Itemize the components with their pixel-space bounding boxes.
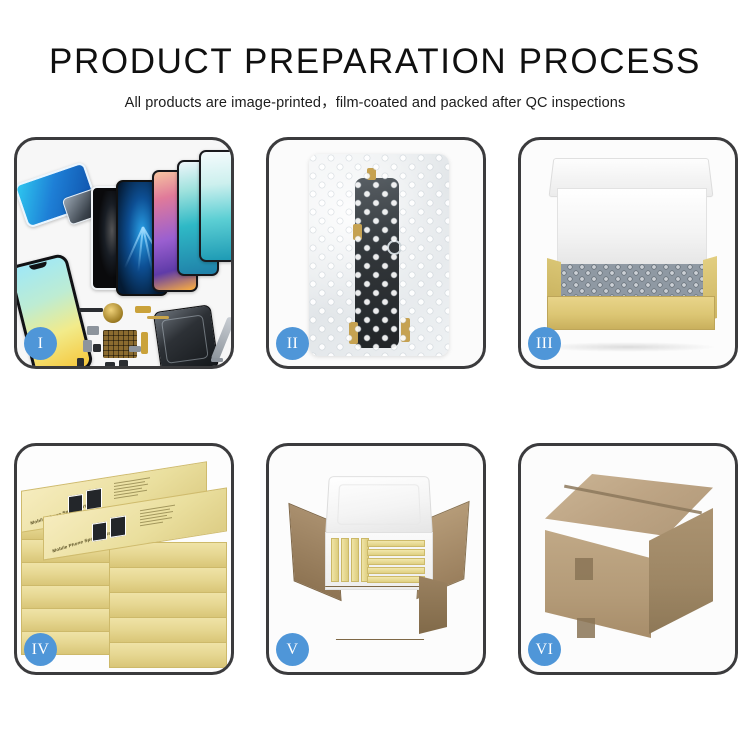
shield-plate-part: [129, 346, 141, 352]
packed-box-v3: [351, 538, 359, 582]
vibrator-part: [119, 360, 128, 366]
foam-sheet-liner: [557, 188, 707, 266]
stacked-box-l3: [21, 562, 111, 586]
flex-cable-part-1: [135, 306, 151, 313]
page-subtitle: All products are image-printed，film-coat…: [0, 91, 750, 112]
screw-strip-part: [79, 308, 103, 312]
step-card-4: Mobile Phone Spare Parts Mobile Phone Sp…: [14, 443, 234, 675]
phone-display-white-teal: [199, 150, 231, 262]
packed-box-v2: [341, 538, 349, 582]
packed-boxes-group: [331, 538, 427, 584]
stacked-box-r5: [109, 642, 227, 668]
sim-tray-part: [77, 358, 84, 366]
step-card-6: VI: [518, 443, 738, 675]
packed-box-h1: [367, 540, 425, 547]
stacked-box-r2: [109, 567, 227, 593]
bubble-wrapped-items-row: [555, 264, 707, 298]
tweezers-tool: [211, 358, 223, 362]
drop-shadow: [539, 342, 717, 352]
page-title: PRODUCT PREPARATION PROCESS: [0, 42, 750, 82]
stacked-box-l4: [21, 585, 111, 609]
step-card-1: I: [14, 137, 234, 369]
step-badge-2: II: [276, 327, 309, 360]
packed-box-h3: [367, 558, 425, 565]
sealed-carton: [531, 468, 729, 658]
box-label-specs-1: [114, 477, 154, 501]
stacked-box-r4: [109, 617, 227, 643]
stacked-box-r3: [109, 592, 227, 618]
step-card-2: II: [266, 137, 486, 369]
box-front-panel: [547, 296, 715, 330]
packed-box-v1: [331, 538, 339, 582]
step-badge-4: IV: [24, 633, 57, 666]
process-steps-grid: I II: [14, 137, 738, 677]
ribbon-cable-part: [147, 316, 169, 319]
step-badge-3: III: [528, 327, 561, 360]
step-badge-5: V: [276, 633, 309, 666]
phone-rear-housing: [153, 304, 219, 366]
carton-left-face: [545, 530, 651, 638]
step-badge-6: VI: [528, 633, 561, 666]
carton-tape-upper: [575, 558, 593, 580]
button-part: [93, 344, 101, 352]
logic-board-part: [103, 330, 137, 358]
packed-box-h5: [367, 576, 425, 583]
bracket-part-1: [87, 326, 99, 335]
bracket-part-2: [83, 340, 92, 352]
box-label-specs-2: [140, 504, 180, 528]
product-preparation-infographic: PRODUCT PREPARATION PROCESS All products…: [0, 0, 750, 750]
packed-box-h4: [367, 567, 425, 574]
flex-cable-part-2: [141, 332, 148, 354]
header: PRODUCT PREPARATION PROCESS All products…: [0, 0, 750, 112]
box-label-image-2b: [110, 515, 126, 538]
bubble-wrap-bag: [309, 154, 449, 356]
step-badge-1: I: [24, 327, 57, 360]
speaker-coil-part: [103, 303, 123, 323]
packed-box-h2: [367, 549, 425, 556]
camera-module-part: [105, 362, 115, 366]
stacked-box-l5: [21, 608, 111, 632]
foam-box-lid: [325, 476, 433, 536]
bubble-texture: [309, 154, 449, 356]
carton-side-panel: [419, 576, 447, 634]
step-card-5: V: [266, 443, 486, 675]
carton-tape-lower: [577, 618, 595, 638]
box-label-image-2a: [92, 521, 107, 541]
step-card-3: III: [518, 137, 738, 369]
